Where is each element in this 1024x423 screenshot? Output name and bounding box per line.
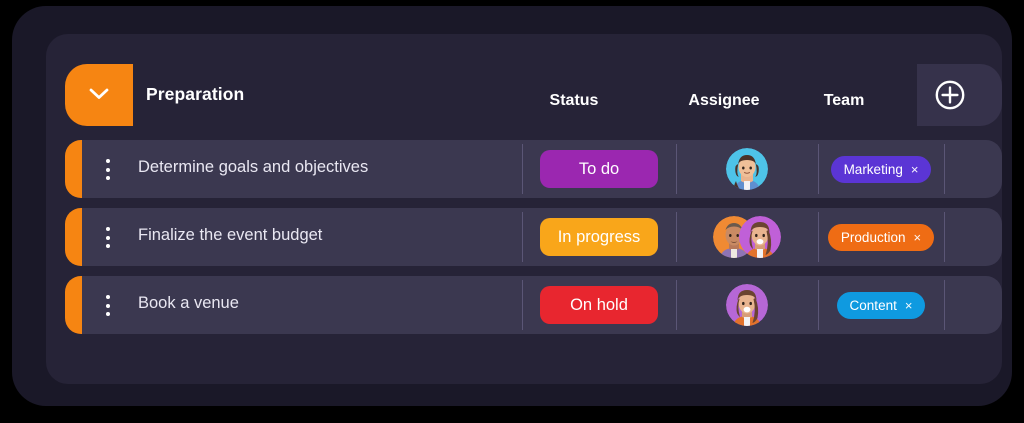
status-badge[interactable]: In progress [540,218,658,256]
avatar-stack[interactable] [726,284,768,326]
close-icon[interactable]: × [913,231,921,244]
drag-dots-icon[interactable] [106,295,111,316]
team-tag[interactable]: Production × [828,224,934,251]
avatar-person-icon [726,284,768,326]
table-row[interactable]: Book a venue On hold [46,276,1002,334]
avatar[interactable] [726,284,768,326]
cell-team: Content × [818,276,944,334]
collapse-group-button[interactable] [65,64,133,126]
plus-circle-icon [934,79,966,111]
row-body: Finalize the event budget In progress [82,208,1002,266]
cell-status: In progress [522,208,676,266]
avatar[interactable] [739,216,781,258]
drag-dots-icon[interactable] [106,159,111,180]
status-badge[interactable]: To do [540,150,658,188]
avatar-person-icon [739,216,781,258]
avatar-stack[interactable] [726,148,768,190]
table-row[interactable]: Finalize the event budget In progress [46,208,1002,266]
cell-team: Production × [818,208,944,266]
status-badge[interactable]: On hold [540,286,658,324]
cell-extra[interactable] [944,276,1002,334]
chevron-down-icon [89,88,109,100]
task-title: Finalize the event budget [138,226,322,245]
row-body: Book a venue On hold [82,276,1002,334]
cell-extra[interactable] [944,140,1002,198]
board-header: Preparation Status Assignee Team [46,34,1002,140]
task-title: Determine goals and objectives [138,158,368,177]
team-tag-label: Marketing [844,162,903,177]
cell-team: Marketing × [818,140,944,198]
team-tag-label: Content [850,298,897,313]
device-frame: Preparation Status Assignee Team [12,6,1012,406]
cell-assignee [676,140,818,198]
close-icon[interactable]: × [911,163,919,176]
task-row-list: Determine goals and objectives To do [46,140,1002,344]
column-header-status[interactable]: Status [494,92,654,110]
cell-extra[interactable] [944,208,1002,266]
table-row[interactable]: Determine goals and objectives To do [46,140,1002,198]
cell-assignee [676,208,818,266]
avatar-stack[interactable] [713,216,781,258]
row-body: Determine goals and objectives To do [82,140,1002,198]
drag-dots-icon[interactable] [106,227,111,248]
cell-status: On hold [522,276,676,334]
team-tag[interactable]: Marketing × [831,156,932,183]
avatar-person-icon [726,148,768,190]
board-panel: Preparation Status Assignee Team [46,34,1002,384]
task-title: Book a venue [138,294,239,313]
avatar[interactable] [726,148,768,190]
team-tag-label: Production [841,230,906,245]
screenshot-root: Preparation Status Assignee Team [0,0,1024,423]
cell-assignee [676,276,818,334]
cell-status: To do [522,140,676,198]
column-header-team[interactable]: Team [764,92,924,110]
team-tag[interactable]: Content × [837,292,926,319]
group-title: Preparation [146,84,244,105]
add-column-button[interactable] [917,64,1002,126]
close-icon[interactable]: × [905,299,913,312]
